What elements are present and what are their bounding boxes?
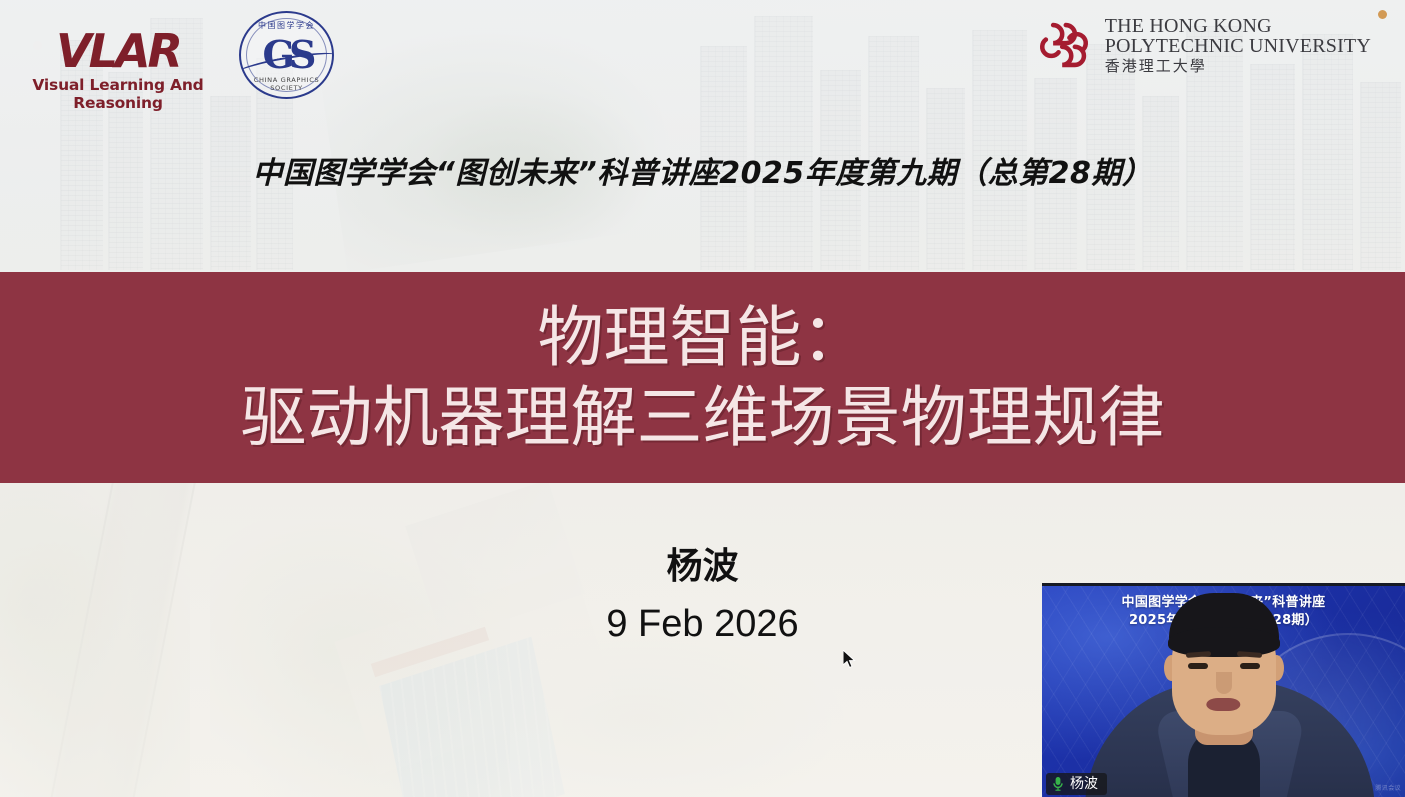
polyu-line-2: POLYTECHNIC UNIVERSITY [1105,36,1371,56]
person-nose [1216,672,1232,694]
vlar-dot-icon [33,41,42,50]
vlar-tagline: Visual Learning And Reasoning [14,76,222,112]
event-header-text: 中国图学学会“图创未来”科普讲座2025年度第九期（总第28期） [0,148,1405,192]
participant-name-label: 杨波 [1070,777,1098,791]
cgs-emblem-circle: 中国图学学会 GS CHINA GRAPHICS SOCIETY [239,11,334,99]
slide-title-line-2: 驱动机器理解三维场景物理规律 [241,384,1165,451]
person-mouth [1206,698,1240,711]
vlar-logo: VLAR Visual Learning And Reasoning [14,28,222,98]
vlar-wordmark: VLAR [56,28,180,74]
cgs-bottom-text: CHINA GRAPHICS SOCIETY [240,76,333,92]
polyu-line-chinese: 香港理工大學 [1105,59,1371,74]
polyu-logo: THE HONG KONG POLYTECHNIC UNIVERSITY 香港理… [1035,16,1371,74]
participant-webcam-person [1042,586,1405,797]
speaker-name: 杨波 [0,537,1405,589]
participant-video-tile[interactable]: 中国图学学会“图创未来”科普讲座 2025年度第九期（总第28期） [1042,583,1405,797]
mouse-cursor-icon [843,650,857,670]
polyu-knot-icon [1035,16,1093,74]
polyu-line-1: THE HONG KONG [1105,16,1371,36]
slide-title-line-1: 物理智能： [538,304,868,371]
video-watermark: 腾讯会议 [1375,783,1401,792]
presentation-slide-screen: VLAR Visual Learning And Reasoning 中国图学学… [0,0,1405,797]
person-eye-left [1188,663,1208,669]
participant-name-badge: 杨波 [1046,773,1107,795]
person-hair-fringe [1168,627,1280,657]
cgs-top-text: 中国图学学会 [241,20,332,31]
polyu-text-block: THE HONG KONG POLYTECHNIC UNIVERSITY 香港理… [1105,16,1371,74]
china-graphics-society-logo: 中国图学学会 GS CHINA GRAPHICS SOCIETY [239,11,334,99]
microphone-icon[interactable] [1052,776,1064,792]
person-eye-right [1240,663,1260,669]
recording-indicator-dot-icon [1378,10,1387,19]
title-banner: 物理智能： 驱动机器理解三维场景物理规律 [0,272,1405,483]
